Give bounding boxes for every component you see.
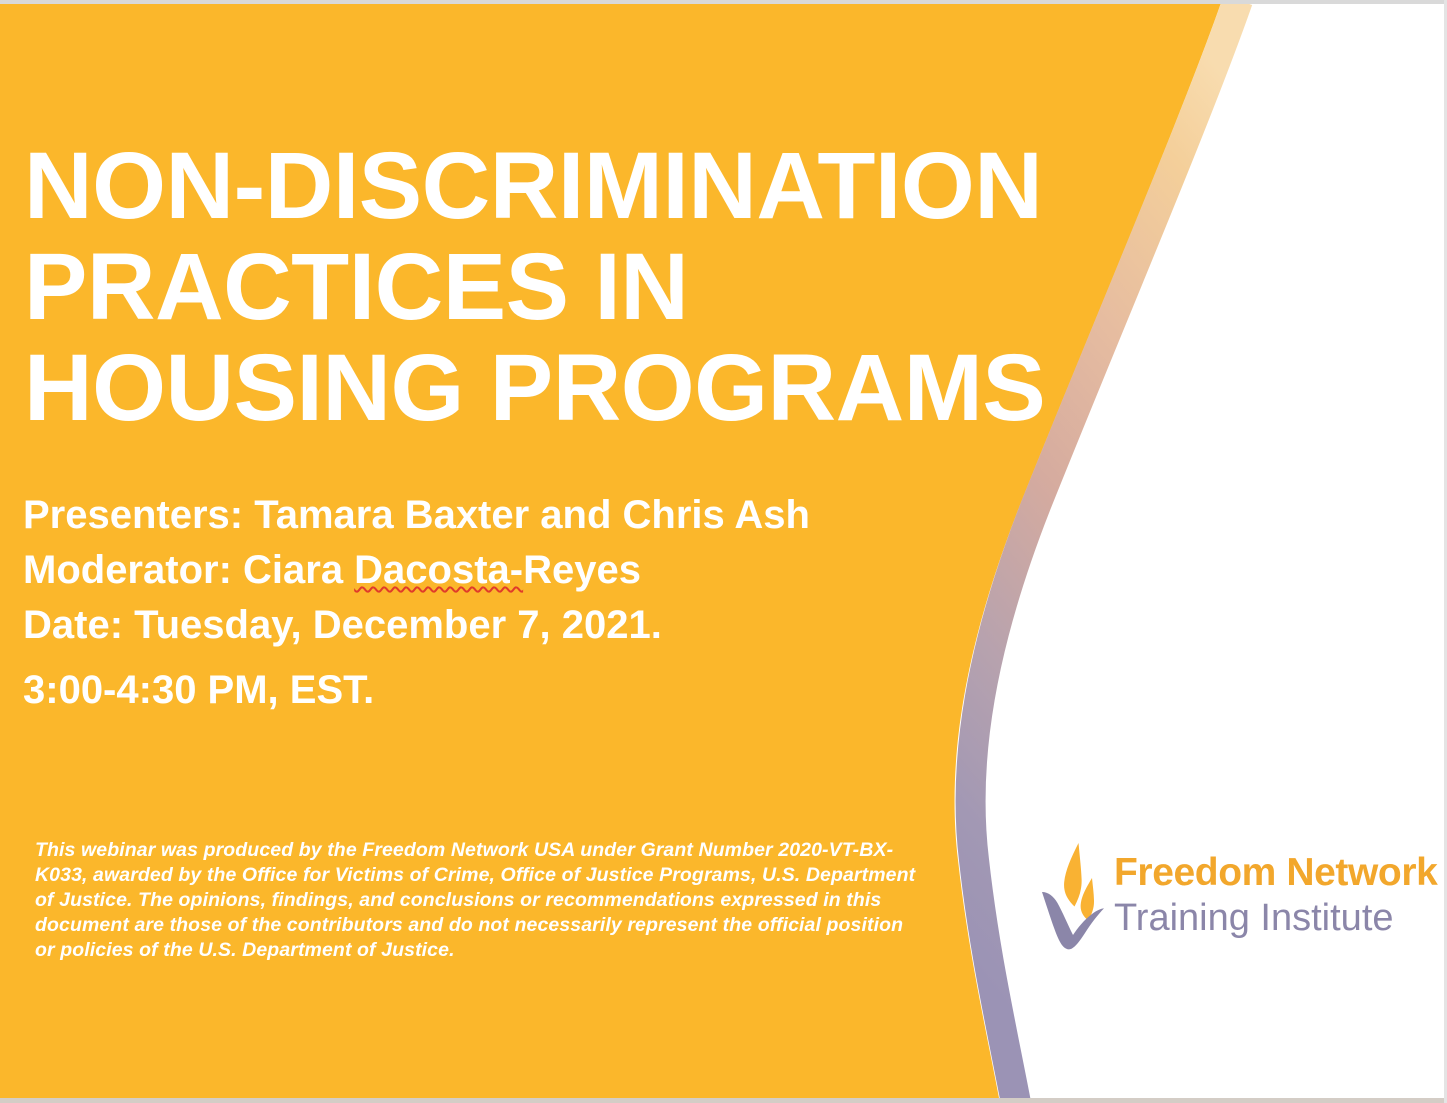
moderator-name-rest: Reyes bbox=[523, 548, 641, 592]
page-edge-top bbox=[0, 0, 1447, 4]
moderator-line: Moderator: Ciara Dacosta-Reyes bbox=[23, 543, 973, 598]
logo-line-training-institute: Training Institute bbox=[1114, 899, 1437, 937]
date-line: Date: Tuesday, December 7, 2021. bbox=[23, 598, 973, 653]
page-edge-bottom bbox=[0, 1098, 1447, 1103]
presenters-line: Presenters: Tamara Baxter and Chris Ash bbox=[23, 488, 973, 543]
session-details: Presenters: Tamara Baxter and Chris Ash … bbox=[23, 488, 973, 718]
page-title: NON-DISCRIMINATION PRACTICES IN HOUSING … bbox=[24, 136, 1034, 439]
title-line-3: HOUSING PROGRAMS bbox=[24, 338, 1034, 439]
flame-icon bbox=[1040, 840, 1106, 950]
slide-content: NON-DISCRIMINATION PRACTICES IN HOUSING … bbox=[0, 0, 1447, 1103]
moderator-name-misspelled: Dacosta- bbox=[354, 548, 523, 592]
title-line-1: NON-DISCRIMINATION bbox=[24, 136, 1034, 237]
logo-line-freedom-network: Freedom Network bbox=[1114, 853, 1437, 892]
slide-canvas: NON-DISCRIMINATION PRACTICES IN HOUSING … bbox=[0, 0, 1447, 1103]
grant-disclaimer: This webinar was produced by the Freedom… bbox=[35, 838, 925, 963]
moderator-label: Moderator: Ciara bbox=[23, 548, 354, 592]
title-line-2: PRACTICES IN bbox=[24, 237, 1034, 338]
logo-wordmark: Freedom Network Training Institute bbox=[1114, 853, 1437, 937]
freedom-network-logo: Freedom Network Training Institute bbox=[1040, 835, 1390, 955]
time-line: 3:00-4:30 PM, EST. bbox=[23, 663, 973, 718]
